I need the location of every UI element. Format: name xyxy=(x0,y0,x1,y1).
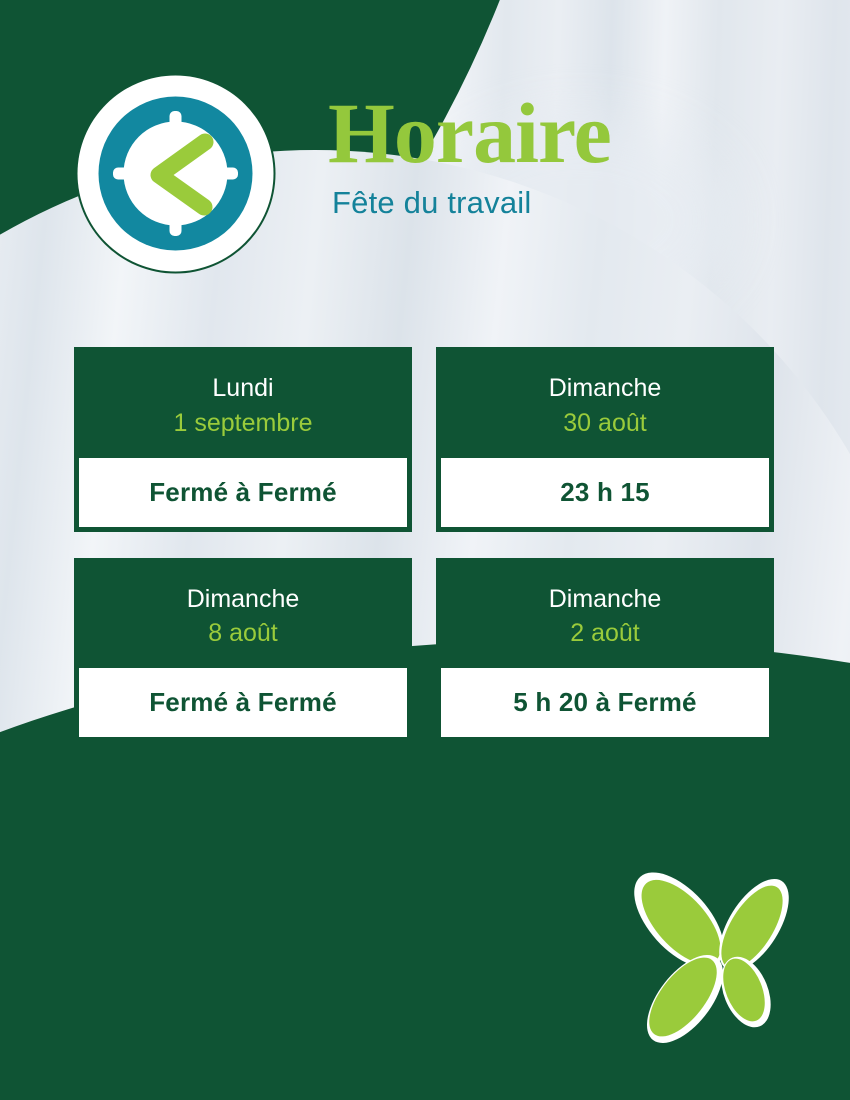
poster-header: Horaire Fête du travail xyxy=(0,0,850,300)
schedule-card-hours: 23 h 15 xyxy=(441,458,769,527)
schedule-card[interactable]: Dimanche 30 août 23 h 15 xyxy=(436,347,774,532)
schedule-card-header: Dimanche 8 août xyxy=(79,563,407,669)
schedule-card[interactable]: Lundi 1 septembre Fermé à Fermé xyxy=(74,347,412,532)
schedule-card-grid: Lundi 1 septembre Fermé à Fermé Dimanche… xyxy=(74,347,774,742)
schedule-card-date: 2 août xyxy=(451,619,759,648)
schedule-card-hours: Fermé à Fermé xyxy=(79,458,407,527)
schedule-card-hours: 5 h 20 à Fermé xyxy=(441,668,769,737)
schedule-card-header: Lundi 1 septembre xyxy=(79,352,407,458)
schedule-poster: Horaire Fête du travail Lundi 1 septembr… xyxy=(0,0,850,1100)
schedule-card-day: Dimanche xyxy=(451,374,759,403)
clock-icon xyxy=(73,71,278,276)
schedule-card-hours: Fermé à Fermé xyxy=(79,668,407,737)
schedule-card-date: 1 septembre xyxy=(89,409,397,438)
schedule-card-date: 8 août xyxy=(89,619,397,648)
butterfly-logo-icon xyxy=(617,858,817,1058)
schedule-card-day: Lundi xyxy=(89,374,397,403)
schedule-card[interactable]: Dimanche 8 août Fermé à Fermé xyxy=(74,558,412,743)
schedule-card-day: Dimanche xyxy=(451,585,759,614)
schedule-card[interactable]: Dimanche 2 août 5 h 20 à Fermé xyxy=(436,558,774,743)
schedule-card-header: Dimanche 30 août xyxy=(441,352,769,458)
title-block: Horaire Fête du travail xyxy=(328,92,798,221)
schedule-card-header: Dimanche 2 août xyxy=(441,563,769,669)
page-title: Horaire xyxy=(328,92,798,175)
page-subtitle: Fête du travail xyxy=(332,185,798,221)
schedule-card-day: Dimanche xyxy=(89,585,397,614)
schedule-card-date: 30 août xyxy=(451,409,759,438)
